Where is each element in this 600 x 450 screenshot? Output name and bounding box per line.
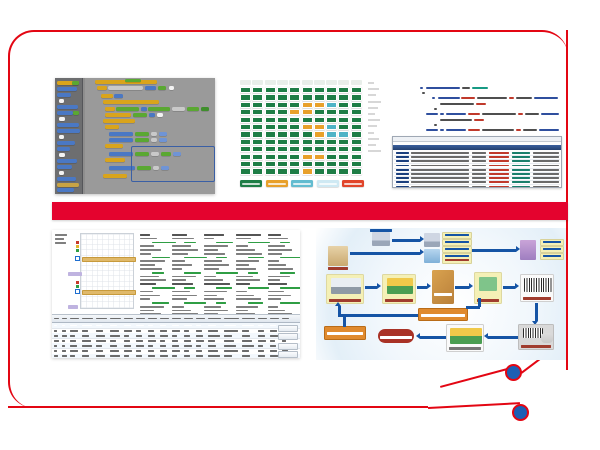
status-grid-column-header <box>252 80 263 85</box>
status-grid-matrix[interactable] <box>240 80 365 176</box>
data-table-column-header[interactable] <box>270 318 279 320</box>
status-grid-cell[interactable] <box>338 124 349 130</box>
status-grid-cell[interactable] <box>302 154 313 160</box>
status-grid-cell[interactable] <box>277 102 288 108</box>
log-text-run <box>411 156 469 158</box>
status-grid-cell[interactable] <box>265 102 276 108</box>
status-grid-cell[interactable] <box>289 139 300 145</box>
table-cell <box>136 350 141 352</box>
table-cell <box>208 350 218 352</box>
status-grid-cell[interactable] <box>240 161 251 167</box>
table-cell <box>136 355 142 357</box>
status-grid-cell[interactable] <box>351 87 362 93</box>
frame-bottom-edge <box>8 406 428 408</box>
status-grid-cell[interactable] <box>338 161 349 167</box>
log-text-run <box>489 173 509 175</box>
data-table-column-header[interactable] <box>96 318 107 320</box>
status-grid-cell[interactable] <box>314 87 325 93</box>
table-cell <box>242 350 249 352</box>
sheet-corner-label-3 <box>55 242 66 244</box>
table-cell <box>208 345 216 347</box>
table-cell <box>70 340 76 342</box>
report-text-line <box>184 242 196 244</box>
archive-chip-3 <box>540 253 564 260</box>
status-grid-cell[interactable] <box>302 102 313 108</box>
report-text-line <box>236 306 258 308</box>
table-cell <box>270 330 277 332</box>
gantt-bar-1[interactable] <box>82 257 136 262</box>
status-grid-cell[interactable] <box>277 139 288 145</box>
legend-swatch-r <box>342 180 364 187</box>
status-grid-cell[interactable] <box>314 154 325 160</box>
table-cell <box>160 330 167 332</box>
status-grid-cell[interactable] <box>351 109 362 115</box>
log-text-run <box>472 152 486 154</box>
report-text-line <box>172 291 190 293</box>
status-grid-cell[interactable] <box>289 87 300 93</box>
report-text-line <box>236 276 253 278</box>
status-grid-cell[interactable] <box>240 117 251 123</box>
status-grid-cell[interactable] <box>314 124 325 130</box>
table-side-button-2[interactable] <box>278 333 298 340</box>
status-grid-row-label <box>368 138 379 140</box>
table-cell <box>270 325 276 327</box>
status-grid-cell[interactable] <box>289 102 300 108</box>
log-text-run <box>533 152 559 154</box>
report-text-line <box>216 302 226 304</box>
table-row[interactable] <box>52 354 300 358</box>
status-grid-cell[interactable] <box>265 139 276 145</box>
data-table-column-header[interactable] <box>62 318 67 320</box>
status-grid-cell[interactable] <box>277 87 288 93</box>
report-text-line <box>236 268 256 270</box>
status-grid-cell[interactable] <box>338 131 349 137</box>
data-table-column-header[interactable] <box>54 318 59 320</box>
status-grid-cell[interactable] <box>277 146 288 152</box>
status-grid-cell[interactable] <box>277 131 288 137</box>
report-text-line <box>172 253 188 255</box>
status-grid-cell[interactable] <box>302 146 313 152</box>
report-text-line <box>268 238 288 240</box>
report-text-line <box>280 272 295 274</box>
status-grid-cell[interactable] <box>252 102 263 108</box>
status-grid-cell[interactable] <box>314 102 325 108</box>
status-grid-cell[interactable] <box>338 146 349 152</box>
table-cell <box>208 335 220 337</box>
putaway-node[interactable] <box>446 324 484 352</box>
report-text-line <box>140 238 157 240</box>
table-cell <box>184 345 192 347</box>
gantt-node-2[interactable] <box>75 289 80 294</box>
supplier-delivery-label <box>327 299 363 302</box>
report-text-line <box>184 287 195 289</box>
status-grid-cell[interactable] <box>265 124 276 130</box>
table-side-button-4[interactable] <box>278 351 298 358</box>
data-table-column-header[interactable] <box>208 318 221 320</box>
table-cell <box>258 355 265 357</box>
data-table-column-header[interactable] <box>160 318 169 320</box>
status-grid-row-label <box>368 101 381 103</box>
status-grid-cell[interactable] <box>265 146 276 152</box>
report-text-line <box>140 249 161 251</box>
status-grid-cell[interactable] <box>326 131 337 137</box>
gantt-node-1[interactable] <box>75 256 80 261</box>
arrow-quarantine-left <box>338 314 418 317</box>
status-grid-cell[interactable] <box>240 109 251 115</box>
status-grid-cell[interactable] <box>338 87 349 93</box>
blocks-selection-outline <box>131 146 215 182</box>
data-table-column-header[interactable] <box>224 318 239 320</box>
status-grid-cell[interactable] <box>302 94 313 100</box>
status-grid-cell[interactable] <box>289 146 300 152</box>
log-text-run <box>512 165 530 167</box>
data-table-column-header[interactable] <box>172 318 181 320</box>
status-grid-cell[interactable] <box>277 168 288 174</box>
table-cell <box>208 355 220 357</box>
status-grid-cell[interactable] <box>240 87 251 93</box>
table-cell <box>224 335 232 337</box>
table-cell <box>172 350 180 352</box>
data-table-column-header[interactable] <box>184 318 193 320</box>
log-text-run <box>396 156 409 158</box>
status-grid-cell[interactable] <box>240 94 251 100</box>
spreadsheet-gantt-and-table[interactable] <box>52 230 300 358</box>
log-text-run <box>396 160 409 162</box>
table-cell <box>196 335 203 337</box>
status-grid-cell[interactable] <box>252 161 263 167</box>
status-grid-cell[interactable] <box>302 139 313 145</box>
hand-icon <box>541 333 553 343</box>
status-grid-cell[interactable] <box>302 124 313 130</box>
blocks-palette[interactable] <box>55 78 83 194</box>
status-grid-cell[interactable] <box>314 161 325 167</box>
report-text-line <box>268 245 285 247</box>
report-text-line <box>172 264 192 266</box>
status-grid-cell[interactable] <box>326 94 337 100</box>
report-text-line <box>236 234 261 236</box>
data-table-column-header[interactable] <box>242 318 255 320</box>
arrowhead-receiving-to-inspect <box>469 283 473 289</box>
log-text-run <box>472 165 486 167</box>
status-grid-cell[interactable] <box>338 154 349 160</box>
status-grid-cell[interactable] <box>302 109 313 115</box>
log-text-run <box>472 181 486 183</box>
status-grid-cell[interactable] <box>240 124 251 130</box>
status-grid-cell[interactable] <box>289 94 300 100</box>
status-grid-cell[interactable] <box>326 154 337 160</box>
status-grid-cell[interactable] <box>351 139 362 145</box>
status-grid-cell[interactable] <box>351 168 362 174</box>
log-text-run <box>533 181 559 183</box>
status-grid-cell[interactable] <box>338 102 349 108</box>
table-cell <box>124 325 131 327</box>
blocks-canvas[interactable] <box>85 78 215 194</box>
status-grid-cell[interactable] <box>302 161 313 167</box>
status-grid-cell[interactable] <box>289 161 300 167</box>
report-text-line <box>204 245 228 247</box>
status-grid-cell[interactable] <box>326 102 337 108</box>
table-cell <box>172 345 179 347</box>
unloading-label <box>383 299 415 302</box>
data-table-column-header[interactable] <box>110 318 121 320</box>
table-cell <box>54 325 57 327</box>
log-text-run <box>512 177 530 179</box>
status-grid-cell[interactable] <box>252 94 263 100</box>
status-grid-cell[interactable] <box>326 117 337 123</box>
accent-dot-upper <box>505 364 522 381</box>
table-cell <box>62 330 66 332</box>
status-grid-cell[interactable] <box>240 102 251 108</box>
barcode-label-print-node[interactable] <box>520 274 554 302</box>
table-cell <box>196 340 204 342</box>
status-grid-cell[interactable] <box>252 124 263 130</box>
sheet-corner-label <box>55 234 67 236</box>
table-cell <box>196 345 201 347</box>
table-cell <box>96 335 105 337</box>
status-grid-cell[interactable] <box>265 154 276 160</box>
status-grid-cell[interactable] <box>277 124 288 130</box>
putaway-label <box>447 347 483 350</box>
status-grid-cell[interactable] <box>289 109 300 115</box>
log-toolbar[interactable] <box>393 137 561 142</box>
status-grid-cell[interactable] <box>252 131 263 137</box>
table-cell <box>258 340 266 342</box>
status-grid-cell[interactable] <box>252 168 263 174</box>
barcode-label-print-label <box>521 297 553 300</box>
report-text-line <box>172 295 197 297</box>
table-side-button-3[interactable] <box>278 343 298 350</box>
status-grid-cell[interactable] <box>326 139 337 145</box>
status-grid-cell[interactable] <box>351 124 362 130</box>
status-grid-cell[interactable] <box>240 146 251 152</box>
status-grid-cell[interactable] <box>302 131 313 137</box>
blocks-visual-programming-editor[interactable] <box>55 78 215 194</box>
status-grid-cell[interactable] <box>277 161 288 167</box>
status-grid-cell[interactable] <box>289 117 300 123</box>
data-table-column-header[interactable] <box>148 318 157 320</box>
status-grid-cell[interactable] <box>338 168 349 174</box>
status-grid-cell[interactable] <box>277 109 288 115</box>
status-grid-cell[interactable] <box>289 131 300 137</box>
status-grid-cell[interactable] <box>240 168 251 174</box>
status-grid-cell[interactable] <box>326 124 337 130</box>
report-text-line <box>152 257 170 259</box>
gantt-side-pill[interactable] <box>68 272 82 276</box>
status-grid-cell[interactable] <box>240 131 251 137</box>
status-grid-column-header <box>302 80 313 85</box>
report-text-line <box>236 283 250 285</box>
report-text-line <box>268 249 292 251</box>
status-grid-cell[interactable] <box>338 139 349 145</box>
report-text-line <box>204 306 221 308</box>
status-grid-cell[interactable] <box>351 131 362 137</box>
receiving-area-node[interactable] <box>432 270 454 304</box>
status-grid-cell[interactable] <box>338 109 349 115</box>
status-grid-cell[interactable] <box>252 139 263 145</box>
supplier-delivery-node[interactable] <box>326 274 364 304</box>
accent-dot-lower <box>512 404 529 421</box>
data-table-column-header[interactable] <box>136 318 145 320</box>
data-table-column-header[interactable] <box>258 318 267 320</box>
status-grid-cell[interactable] <box>326 168 337 174</box>
status-grid-cell[interactable] <box>302 117 313 123</box>
status-grid-cell[interactable] <box>252 146 263 152</box>
table-cell <box>172 330 180 332</box>
stock-in-complete-node[interactable] <box>378 329 414 343</box>
report-text-line <box>216 287 232 289</box>
flag-green-1 <box>76 249 79 252</box>
status-grid-cell[interactable] <box>265 94 276 100</box>
status-grid-cell[interactable] <box>338 94 349 100</box>
status-grid-cell[interactable] <box>289 124 300 130</box>
log-text-run <box>489 169 509 171</box>
status-grid-cell[interactable] <box>289 168 300 174</box>
table-cell <box>242 335 250 337</box>
report-text-line <box>268 260 279 262</box>
report-text-line <box>236 253 262 255</box>
legend-swatch-b <box>317 180 339 187</box>
report-text-line <box>268 291 284 293</box>
arrow-label-to-scan <box>535 303 538 321</box>
nonconforming-quarantine-node[interactable] <box>418 308 468 321</box>
status-grid-cell[interactable] <box>252 109 263 115</box>
status-grid-cell[interactable] <box>277 154 288 160</box>
report-text-line <box>216 242 233 244</box>
log-console-window[interactable] <box>392 136 562 188</box>
gantt-side-pill-2[interactable] <box>68 305 78 309</box>
status-grid-cell[interactable] <box>277 117 288 123</box>
table-cell <box>62 335 67 337</box>
data-table-header[interactable] <box>52 315 300 323</box>
log-row[interactable] <box>394 185 560 188</box>
table-cell <box>62 350 66 352</box>
status-grid-cell[interactable] <box>314 117 325 123</box>
status-grid-cell[interactable] <box>302 168 313 174</box>
warehouse-logistics-workflow-diagram[interactable] <box>316 228 566 360</box>
table-cell <box>208 330 218 332</box>
status-grid-cell[interactable] <box>351 161 362 167</box>
status-grid-cell[interactable] <box>326 87 337 93</box>
status-grid-cell[interactable] <box>240 139 251 145</box>
status-grid-cell[interactable] <box>314 168 325 174</box>
status-grid-cell[interactable] <box>252 117 263 123</box>
status-grid-cell[interactable] <box>252 154 263 160</box>
report-text-line <box>280 302 300 304</box>
table-cell <box>110 355 120 357</box>
erp-terminal-icon <box>424 249 440 263</box>
report-text-line <box>216 257 227 259</box>
status-grid-cell[interactable] <box>265 117 276 123</box>
status-grid-cell[interactable] <box>265 109 276 115</box>
arrow-order-to-erp <box>392 239 420 242</box>
status-grid-cell[interactable] <box>314 131 325 137</box>
status-grid-cell[interactable] <box>338 117 349 123</box>
status-grid-cell[interactable] <box>351 102 362 108</box>
status-grid-cell[interactable] <box>314 109 325 115</box>
status-grid-cell[interactable] <box>351 154 362 160</box>
table-cell <box>184 325 192 327</box>
status-grid-cell[interactable] <box>314 139 325 145</box>
table-cell <box>82 350 88 352</box>
forklift-icon <box>387 278 413 294</box>
table-cell <box>110 345 117 347</box>
log-text-run <box>533 186 559 188</box>
data-table-column-header[interactable] <box>282 318 289 320</box>
report-text-line <box>268 310 285 312</box>
data-table-column-header[interactable] <box>196 318 205 320</box>
status-grid-cell[interactable] <box>265 168 276 174</box>
data-table-column-header[interactable] <box>124 318 133 320</box>
status-grid-cell[interactable] <box>265 87 276 93</box>
status-grid-legend <box>240 180 368 188</box>
gantt-grid[interactable] <box>80 233 134 309</box>
status-grid-cell[interactable] <box>314 94 325 100</box>
status-grid-cell[interactable] <box>351 94 362 100</box>
status-grid-cell[interactable] <box>265 131 276 137</box>
status-grid-cell[interactable] <box>289 154 300 160</box>
report-text-line <box>268 253 282 255</box>
status-grid-cell[interactable] <box>314 146 325 152</box>
status-grid-cell[interactable] <box>351 146 362 152</box>
status-grid-cell[interactable] <box>277 94 288 100</box>
erp-chip-4 <box>442 253 472 264</box>
data-table-column-header[interactable] <box>82 318 93 320</box>
status-grid-cell[interactable] <box>351 117 362 123</box>
report-text-line <box>248 242 270 244</box>
nonconforming-quarantine-label <box>419 314 467 317</box>
nonconforming-warehouse-node[interactable] <box>324 326 366 340</box>
status-grid-cell[interactable] <box>326 146 337 152</box>
status-grid-cell[interactable] <box>302 87 313 93</box>
data-table[interactable] <box>52 314 300 358</box>
status-grid-cell[interactable] <box>326 109 337 115</box>
status-grid-column-header <box>314 80 325 85</box>
table-side-button-1[interactable] <box>278 325 298 332</box>
source-code-editor[interactable] <box>392 84 562 134</box>
table-cell <box>196 355 203 357</box>
report-text-line <box>140 298 150 300</box>
scan-entry-node[interactable] <box>518 324 554 350</box>
erp-chip-1 <box>442 232 472 239</box>
status-grid-row-label <box>368 125 377 127</box>
table-cell <box>136 325 144 327</box>
table-cell <box>172 355 177 357</box>
log-text-run <box>472 160 486 162</box>
data-table-column-header[interactable] <box>70 318 79 320</box>
slide-canvas <box>0 0 600 450</box>
unloading-node[interactable] <box>382 274 416 304</box>
table-cell <box>62 340 65 342</box>
status-grid-cell[interactable] <box>326 161 337 167</box>
status-grid-cell[interactable] <box>265 161 276 167</box>
report-text-line <box>280 242 290 244</box>
report-text-line <box>236 310 248 312</box>
table-cell <box>160 335 168 337</box>
table-cell <box>224 345 236 347</box>
report-text-line <box>236 298 261 300</box>
report-text-line <box>236 295 254 297</box>
table-cell <box>224 340 234 342</box>
gantt-bar-2[interactable] <box>82 290 136 295</box>
status-grid-cell[interactable] <box>240 154 251 160</box>
table-cell <box>148 350 154 352</box>
table-cell <box>110 350 119 352</box>
report-text-line <box>268 298 281 300</box>
status-grid-cell[interactable] <box>252 87 263 93</box>
report-text-line <box>236 238 251 240</box>
report-text-line <box>140 264 155 266</box>
log-text-run <box>512 186 530 188</box>
